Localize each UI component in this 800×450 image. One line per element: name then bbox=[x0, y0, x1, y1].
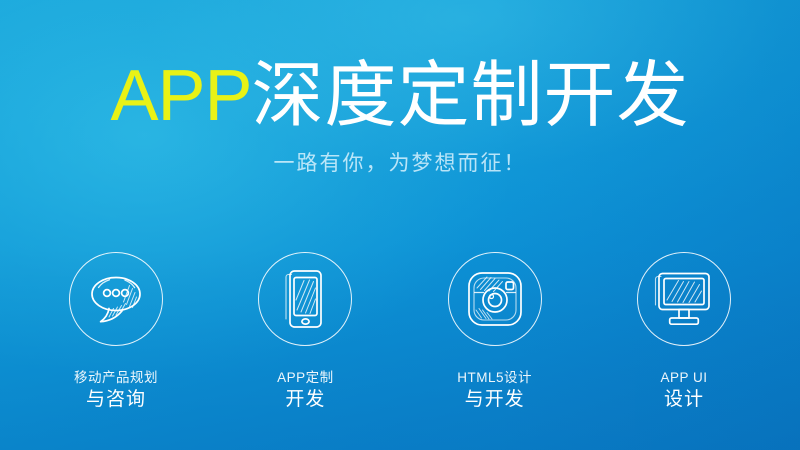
feature-label-top: APP定制 bbox=[277, 368, 334, 387]
feature-item-app-development[interactable]: APP定制 开发 bbox=[235, 252, 375, 413]
feature-labels: APP定制 开发 bbox=[277, 368, 334, 413]
feature-label-main: 设计 bbox=[660, 387, 707, 413]
feature-label-main: 与咨询 bbox=[74, 387, 158, 413]
feature-item-html5[interactable]: HTML5设计 与开发 bbox=[425, 252, 565, 413]
headline: APP深度定制开发 bbox=[0, 55, 800, 137]
feature-label-main: 开发 bbox=[277, 387, 334, 413]
subtitle: 一路有你，为梦想而征！ bbox=[0, 150, 800, 178]
chat-bubble-icon bbox=[85, 271, 147, 327]
smartphone-icon bbox=[282, 268, 328, 330]
headline-english: APP bbox=[110, 56, 251, 136]
icon-circle bbox=[258, 252, 352, 346]
feature-label-top: APP UI bbox=[660, 368, 707, 387]
feature-labels: APP UI 设计 bbox=[660, 368, 707, 413]
icon-circle bbox=[448, 252, 542, 346]
camera-icon bbox=[465, 270, 525, 328]
feature-label-top: 移动产品规划 bbox=[74, 368, 158, 387]
promo-banner: APP深度定制开发 一路有你，为梦想而征！ bbox=[0, 0, 800, 450]
banner-content: APP深度定制开发 一路有你，为梦想而征！ bbox=[0, 0, 800, 450]
feature-labels: 移动产品规划 与咨询 bbox=[74, 368, 158, 413]
feature-label-main: 与开发 bbox=[457, 387, 532, 413]
feature-item-consulting[interactable]: 移动产品规划 与咨询 bbox=[46, 252, 186, 413]
feature-label-top: HTML5设计 bbox=[457, 368, 532, 387]
icon-circle bbox=[69, 252, 163, 346]
monitor-icon bbox=[652, 271, 716, 327]
icon-circle bbox=[637, 252, 731, 346]
headline-chinese: 深度定制开发 bbox=[252, 56, 690, 136]
feature-labels: HTML5设计 与开发 bbox=[457, 368, 532, 413]
feature-item-app-ui[interactable]: APP UI 设计 bbox=[614, 252, 754, 413]
feature-list: 移动产品规划 与咨询 bbox=[0, 252, 800, 413]
